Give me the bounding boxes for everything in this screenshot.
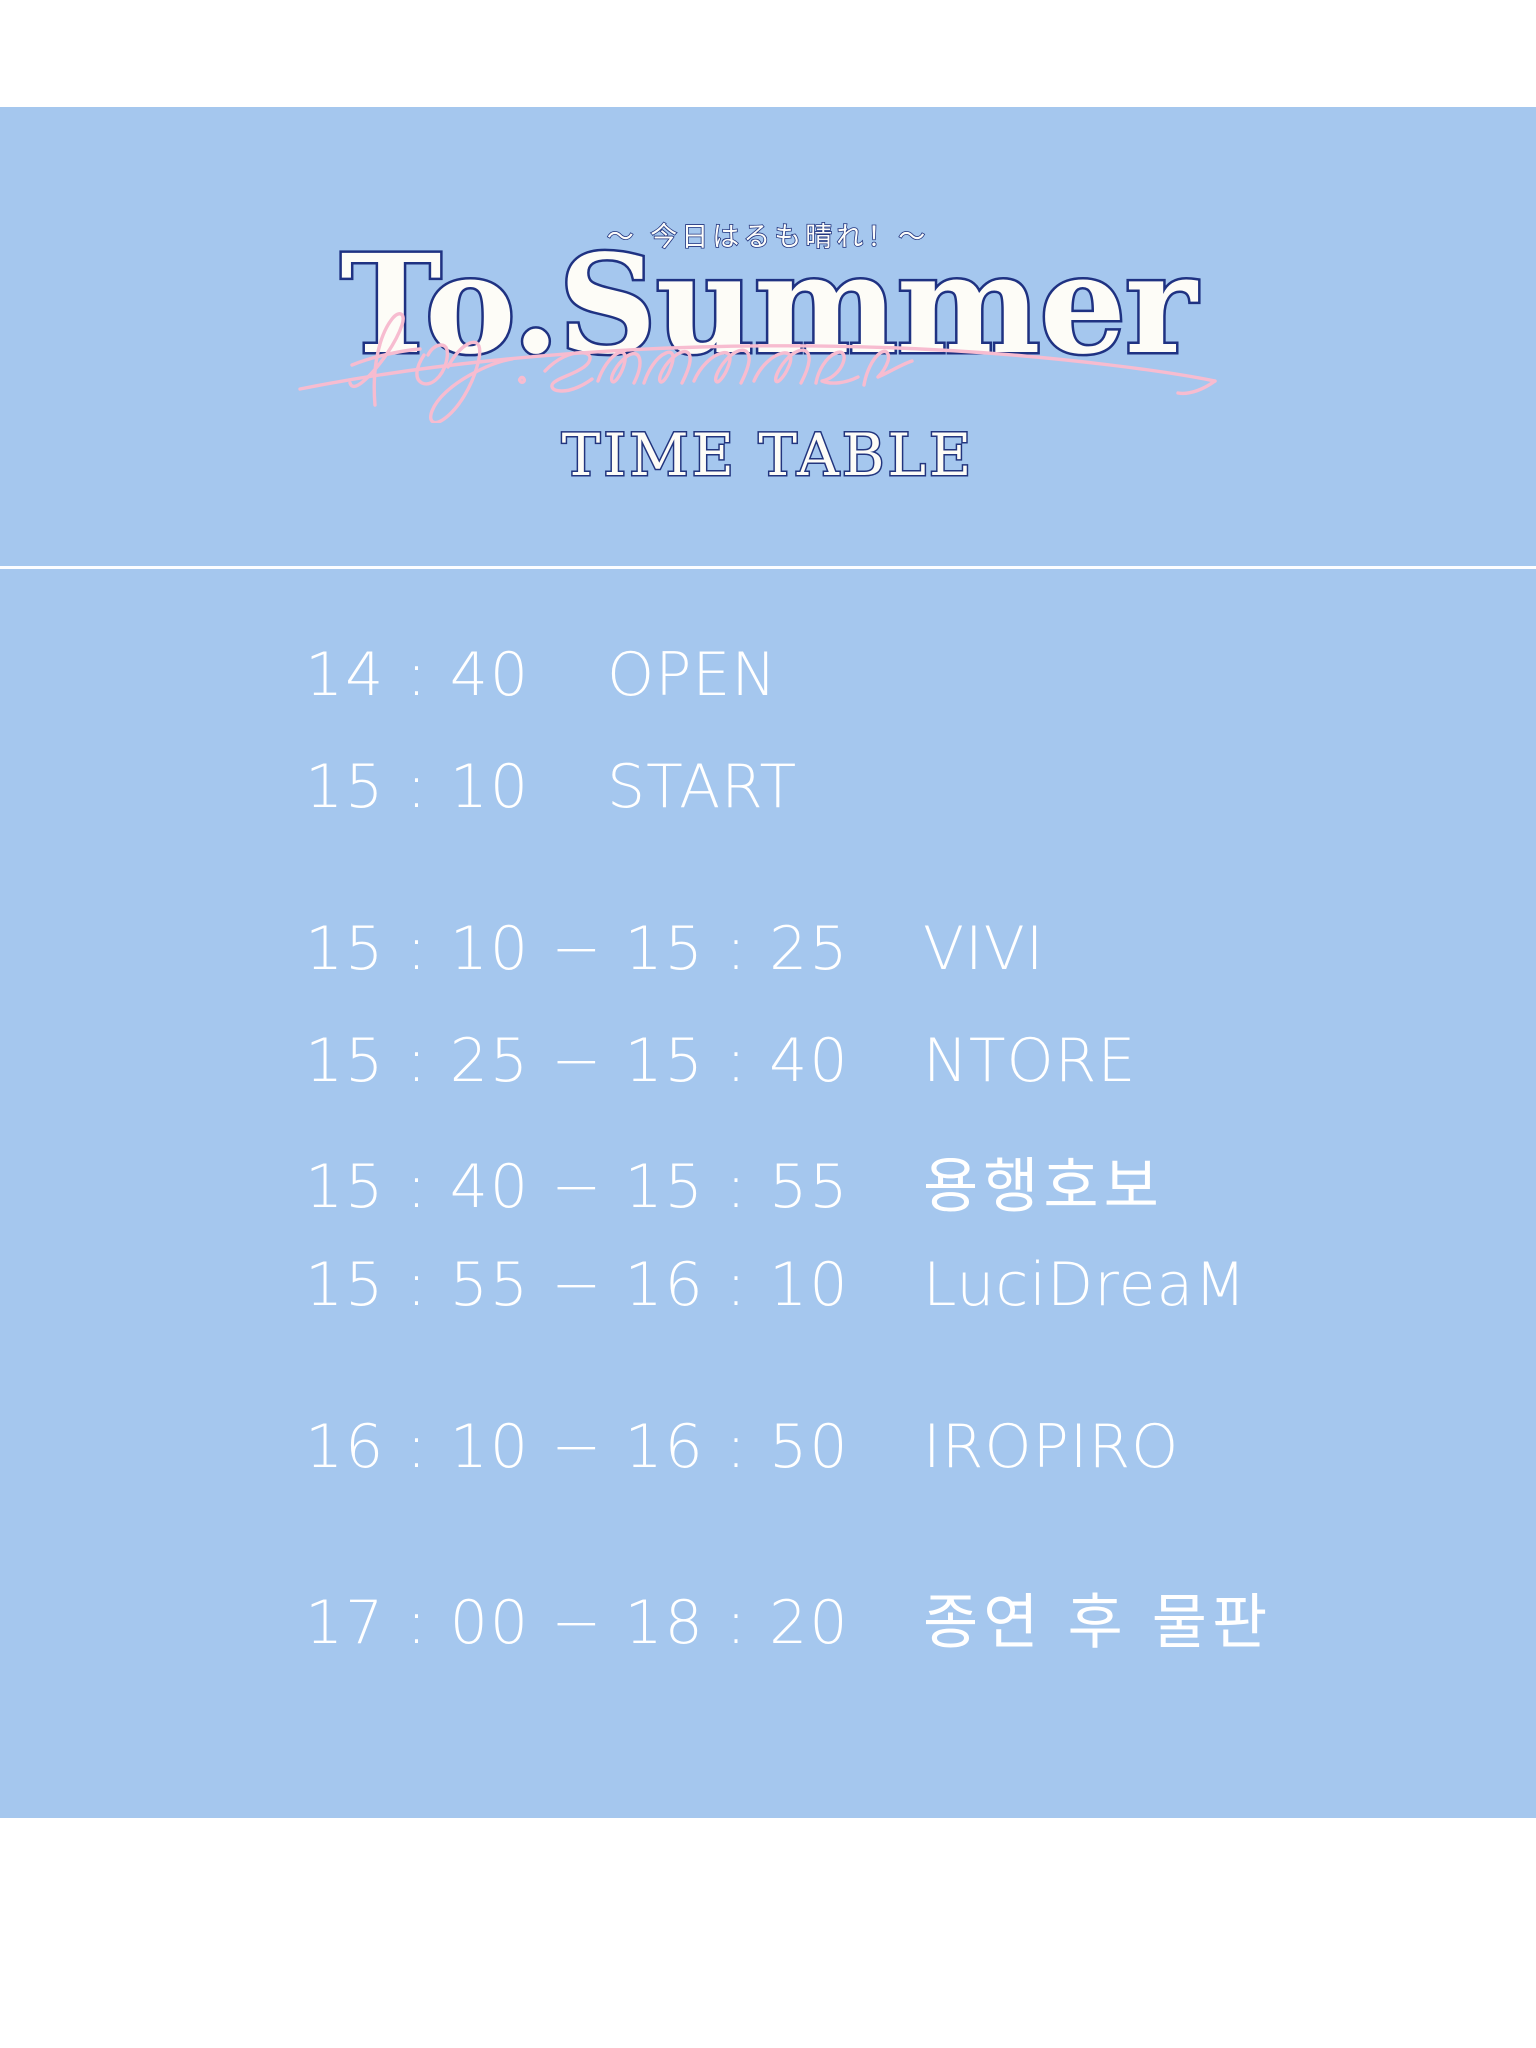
schedule-row: 17 : 00 − 18 : 20종연 후 물판: [0, 1574, 1536, 1686]
schedule-time: 15 : 10 − 15 : 25: [305, 914, 923, 984]
schedule-entry-name: START: [607, 752, 1536, 822]
schedule-row: 15 : 25 − 15 : 40NTORE: [0, 1026, 1536, 1138]
timetable-poster: 〜 今日はるも晴れ！〜 To.Summer: [0, 0, 1536, 2048]
page-title: To.Summer: [0, 237, 1536, 373]
schedule-entry-name: 종연 후 물판: [923, 1574, 1536, 1661]
header-divider: [0, 566, 1536, 569]
schedule-row: 15 : 40 − 15 : 55용행호보: [0, 1138, 1536, 1250]
schedule-time: 15 : 40 − 15 : 55: [305, 1152, 923, 1222]
schedule-row: 15 : 10 − 15 : 25VIVI: [0, 914, 1536, 1026]
schedule-list: 14 : 40OPEN15 : 10START15 : 10 − 15 : 25…: [0, 640, 1536, 1686]
schedule-entry-name: LuciDreaM: [923, 1250, 1536, 1320]
page-subtitle: TIME TABLE: [0, 421, 1536, 489]
schedule-entry-name: VIVI: [923, 914, 1536, 984]
schedule-row: 16 : 10 − 16 : 50IROPIRO: [0, 1412, 1536, 1524]
schedule-entry-name: 용행호보: [923, 1138, 1536, 1225]
schedule-time: 15 : 25 − 15 : 40: [305, 1026, 923, 1096]
poster-header: 〜 今日はるも晴れ！〜 To.Summer: [0, 107, 1536, 568]
schedule-time: 16 : 10 − 16 : 50: [305, 1412, 923, 1482]
schedule-time: 14 : 40: [305, 640, 607, 710]
schedule-entry-name: NTORE: [923, 1026, 1536, 1096]
schedule-time: 15 : 10: [305, 752, 607, 822]
schedule-row: 15 : 10START: [0, 752, 1536, 864]
schedule-entry-name: OPEN: [607, 640, 1536, 710]
schedule-time: 17 : 00 − 18 : 20: [305, 1588, 923, 1658]
schedule-time: 15 : 55 − 16 : 10: [305, 1250, 923, 1320]
schedule-row: 14 : 40OPEN: [0, 640, 1536, 752]
schedule-entry-name: IROPIRO: [923, 1412, 1536, 1482]
title-group: To.Summer: [0, 237, 1536, 427]
schedule-row: 15 : 55 − 16 : 10LuciDreaM: [0, 1250, 1536, 1362]
